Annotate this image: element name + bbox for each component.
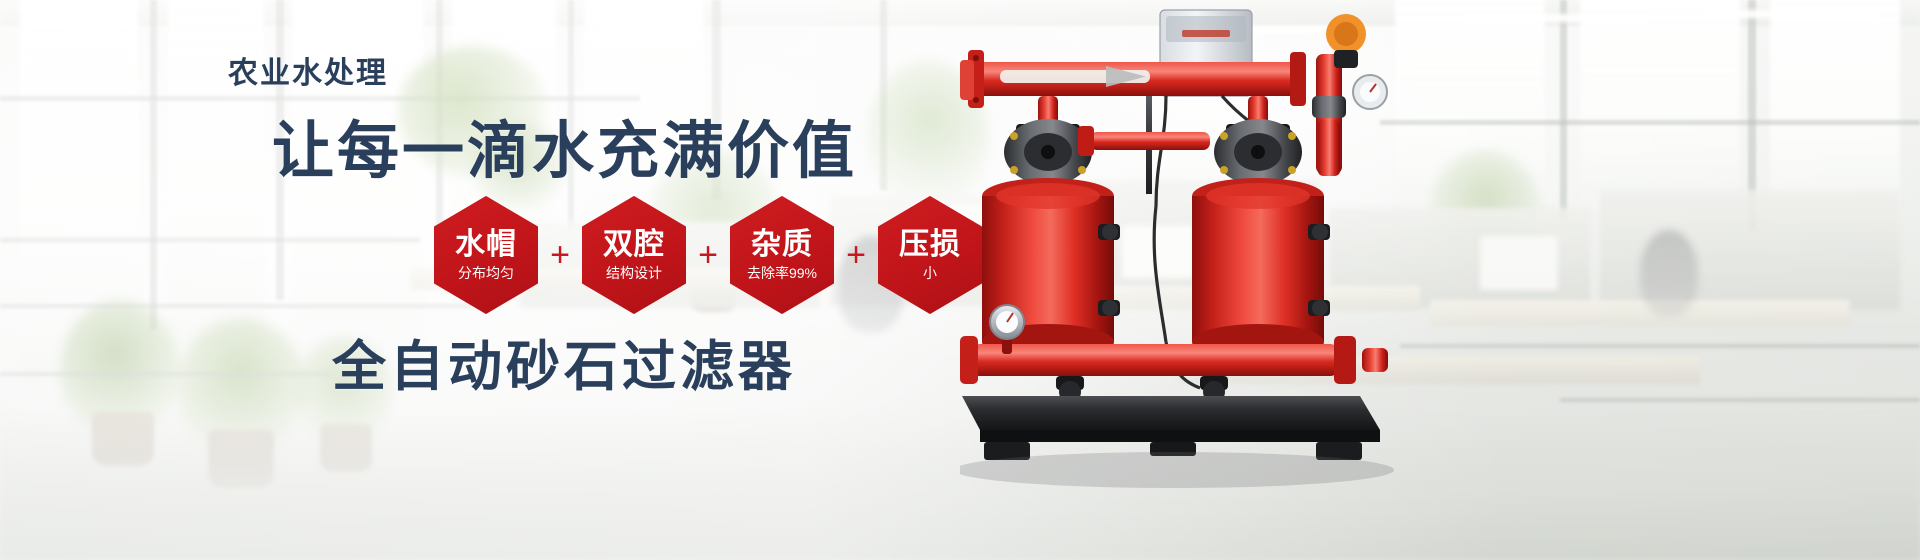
plus-separator-1: +: [538, 238, 582, 272]
skid-base: [962, 396, 1380, 460]
vessel-clamp: [1098, 300, 1120, 316]
feature-badge-4-sub: 小: [923, 266, 937, 281]
feature-badge-4-title: 压损: [899, 229, 961, 261]
air-release-valve: [1312, 14, 1387, 176]
filter-vessel-right: [1192, 178, 1330, 360]
product-image-sand-filter: [960, 0, 1480, 560]
vessel-clamp: [1308, 224, 1330, 240]
feature-badge-4[interactable]: 压损 小: [878, 196, 982, 314]
spur-pipe: [1078, 126, 1210, 156]
vessel-clamp: [1098, 224, 1120, 240]
plus-separator-2: +: [686, 238, 730, 272]
feature-badge-3[interactable]: 杂质 去除率99%: [730, 196, 834, 314]
plus-separator-3: +: [834, 238, 878, 272]
feature-badge-2-title: 双腔: [603, 229, 665, 261]
feature-badge-1[interactable]: 水帽 分布均匀: [434, 196, 538, 314]
vessel-clamp: [1308, 300, 1330, 316]
hero-banner: 农业水处理 让每一滴水充满价值 全自动砂石过滤器 水帽 分布均匀 + 双腔 结构…: [0, 0, 1920, 560]
manifold-pipe-bottom: [960, 336, 1388, 403]
feature-badge-2-sub: 结构设计: [606, 266, 662, 281]
eyebrow-text: 农业水处理: [228, 48, 388, 92]
feature-badge-3-sub: 去除率99%: [747, 266, 817, 281]
feature-badge-1-title: 水帽: [455, 229, 517, 261]
product-title-text: 全自动砂石过滤器: [332, 322, 796, 401]
feature-badge-1-sub: 分布均匀: [458, 266, 514, 281]
feature-badge-2[interactable]: 双腔 结构设计: [582, 196, 686, 314]
feature-badge-row: 水帽 分布均匀 + 双腔 结构设计 + 杂质 去除率99% + 压损 小: [434, 196, 982, 314]
headline-text: 让每一滴水充满价值: [272, 100, 857, 190]
feature-badge-3-title: 杂质: [751, 229, 813, 261]
